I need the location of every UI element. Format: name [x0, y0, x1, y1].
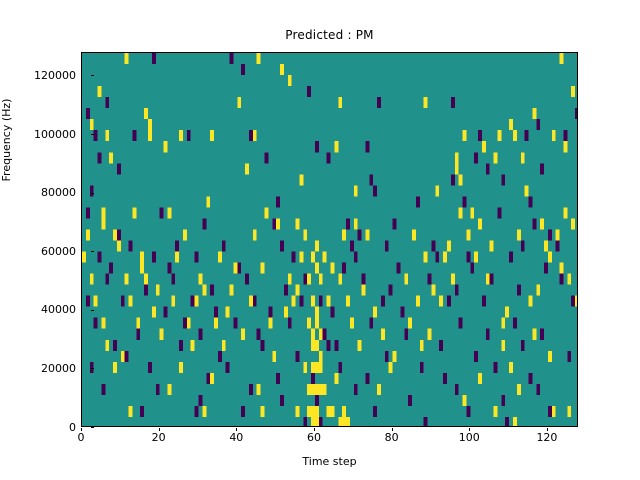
x-tick-label: 0 [51, 431, 111, 444]
x-tick-mark [547, 428, 548, 432]
matplotlib-figure: Predicted : PM Frequency (Hz) 0200004000… [0, 0, 640, 480]
x-tick-label: 40 [206, 431, 266, 444]
x-tick-mark [159, 428, 160, 432]
x-axis-ticks: 020406080100120 [0, 0, 640, 480]
x-tick-mark [236, 428, 237, 432]
x-tick-label: 100 [439, 431, 499, 444]
x-tick-mark [469, 428, 470, 432]
x-axis-label: Time step [81, 455, 578, 468]
x-tick-label: 80 [362, 431, 422, 444]
x-tick-mark [392, 428, 393, 432]
x-tick-mark [81, 428, 82, 432]
x-tick-label: 60 [284, 431, 344, 444]
x-tick-mark [314, 428, 315, 432]
x-tick-label: 20 [129, 431, 189, 444]
x-tick-label: 120 [517, 431, 577, 444]
